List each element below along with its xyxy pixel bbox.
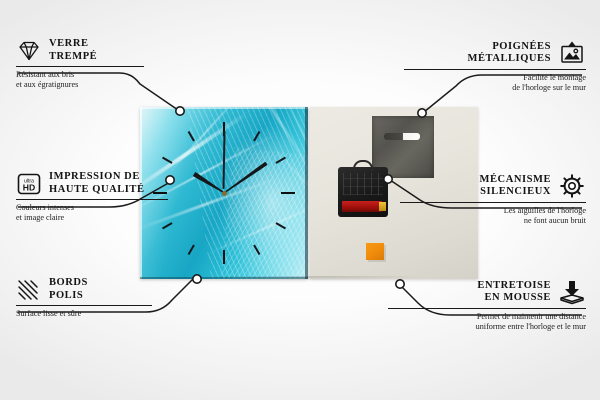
callout-sub-line2: ne font aucun bruit xyxy=(400,216,586,226)
callout-title-line2: POLIS xyxy=(49,290,88,303)
mechanism-hanger-loop xyxy=(353,160,373,171)
callout-title-line2: TREMPÉ xyxy=(49,51,97,64)
callout-title-line2: EN MOUSSE xyxy=(477,292,551,305)
callout-sub-line2: et image claire xyxy=(16,213,186,223)
callout-verre-trempe: VERRE TREMPÉ Résistant aux bris et aux é… xyxy=(16,38,176,90)
diamond-icon xyxy=(16,40,42,62)
callout-title-line1: VERRE xyxy=(49,38,97,51)
callout-sub-line1: Facilite le montage xyxy=(404,73,586,83)
callout-header: VERRE TREMPÉ xyxy=(16,38,176,63)
hanger-keyhole-slot xyxy=(384,133,420,140)
gear-icon xyxy=(558,173,586,199)
callout-impression-haute-qualite: ultra HD IMPRESSION DE HAUTE QUALITÉ Cou… xyxy=(16,171,186,223)
clock-center-cap xyxy=(222,191,227,196)
callout-sub-line2: de l'horloge sur le mur xyxy=(404,83,586,93)
clock-tick xyxy=(275,157,286,164)
callout-title-block: POIGNÉES MÉTALLIQUES xyxy=(468,41,551,66)
callout-header: MÉCANISME SILENCIEUX xyxy=(400,173,586,199)
polished-edge-icon xyxy=(16,278,42,302)
ultra-hd-icon-main-text: HD xyxy=(23,182,35,192)
callout-sub-line1: Résistant aux bris xyxy=(16,70,176,80)
clock-mechanism xyxy=(338,167,388,217)
callout-title-block: IMPRESSION DE HAUTE QUALITÉ xyxy=(49,171,145,196)
mechanism-housing-detail xyxy=(343,173,383,195)
clock-second-hand xyxy=(223,131,226,189)
callout-rule xyxy=(404,69,586,70)
callout-sub-line1: Permet de maintenir une distance xyxy=(388,312,586,322)
callout-title-line1: BORDS xyxy=(49,277,88,290)
clock-hour-hand xyxy=(192,172,225,195)
clock-tick xyxy=(162,157,173,164)
callout-title-line1: IMPRESSION DE xyxy=(49,171,145,184)
picture-hanger-icon xyxy=(558,40,586,66)
callout-rule xyxy=(388,308,586,309)
callout-header: POIGNÉES MÉTALLIQUES xyxy=(404,40,586,66)
callout-mecanisme-silencieux: MÉCANISME SILENCIEUX Les aiguil xyxy=(400,173,586,226)
clock-tick xyxy=(253,131,260,142)
clock-tick xyxy=(223,250,225,264)
callout-title-line2: MÉTALLIQUES xyxy=(468,53,551,66)
callout-title-line1: POIGNÉES xyxy=(468,41,551,54)
clock-tick xyxy=(188,244,195,255)
callout-title-block: VERRE TREMPÉ xyxy=(49,38,97,63)
clock-tick xyxy=(275,222,286,229)
callout-title-block: ENTRETOISE EN MOUSSE xyxy=(477,280,551,305)
callout-sub-line1: Couleurs intenses xyxy=(16,203,186,213)
callout-rule xyxy=(16,66,144,67)
callout-rule xyxy=(400,202,586,203)
clock-minute-hand xyxy=(223,162,268,195)
callout-bords-polis: BORDS POLIS Surface lisse et sûre xyxy=(16,277,176,319)
callout-sub-line2: et aux égratignures xyxy=(16,80,176,90)
callout-header: ENTRETOISE EN MOUSSE xyxy=(388,279,586,305)
callout-title-block: MÉCANISME SILENCIEUX xyxy=(480,174,551,199)
infographic-page: VERRE TREMPÉ Résistant aux bris et aux é… xyxy=(0,0,600,400)
foam-spacer xyxy=(366,243,384,260)
callout-sub-line1: Les aiguilles de l'horloge xyxy=(400,206,586,216)
callout-title-line1: MÉCANISME xyxy=(480,174,551,187)
callout-rule xyxy=(16,199,168,200)
callout-sub-line2: uniforme entre l'horloge et le mur xyxy=(388,322,586,332)
callout-rule xyxy=(16,305,152,306)
clock-tick xyxy=(188,131,195,142)
ultra-hd-icon: ultra HD xyxy=(16,172,42,196)
foam-spacer-icon xyxy=(558,279,586,305)
callout-title-line2: HAUTE QUALITÉ xyxy=(49,184,145,197)
callout-sub-line1: Surface lisse et sûre xyxy=(16,309,176,319)
callout-poignees-metalliques: POIGNÉES MÉTALLIQUES Facilite le montage… xyxy=(404,40,586,93)
callout-title-line2: SILENCIEUX xyxy=(480,186,551,199)
callout-entretoise-en-mousse: ENTRETOISE EN MOUSSE Permet de maintenir… xyxy=(388,279,586,332)
callout-title-line1: ENTRETOISE xyxy=(477,280,551,293)
callout-header: ultra HD IMPRESSION DE HAUTE QUALITÉ xyxy=(16,171,186,196)
callout-title-block: BORDS POLIS xyxy=(49,277,88,302)
clock-tick xyxy=(281,192,295,194)
battery xyxy=(342,201,382,212)
callout-header: BORDS POLIS xyxy=(16,277,176,302)
clock-tick xyxy=(253,244,260,255)
